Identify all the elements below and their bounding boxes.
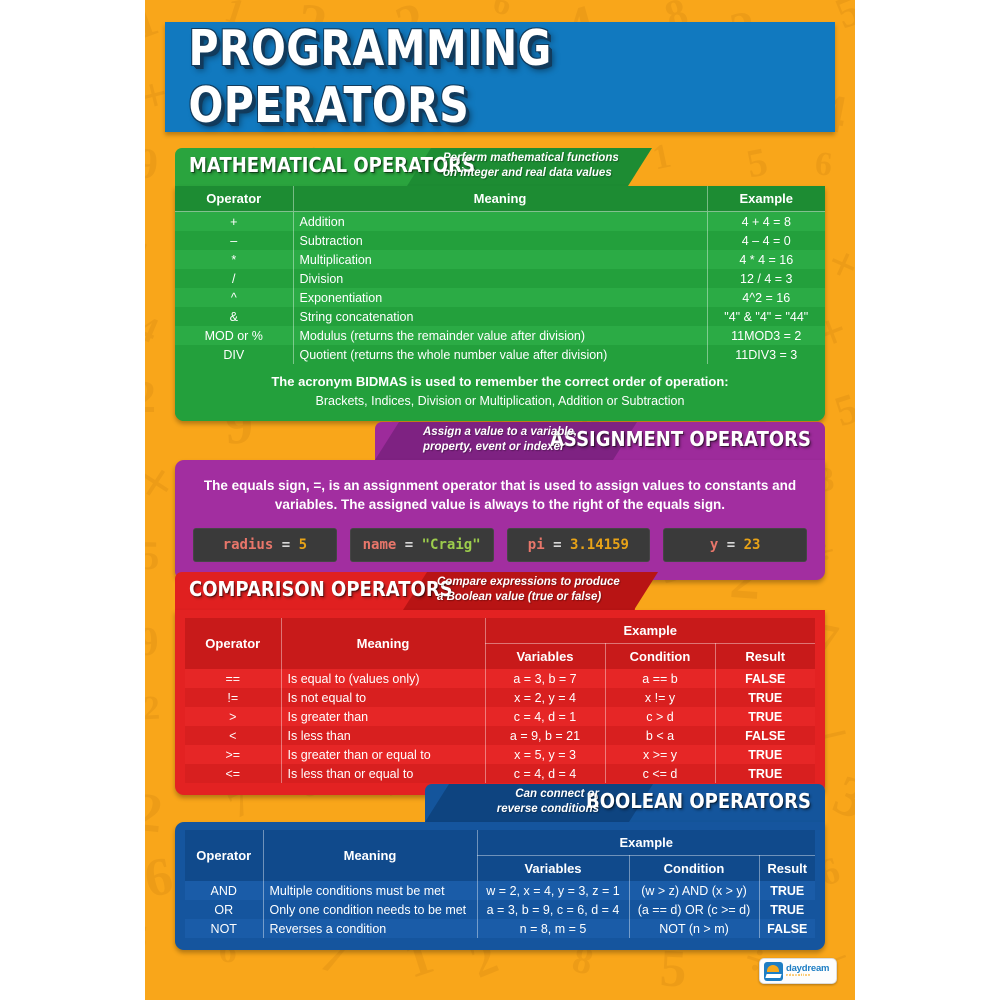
boolean-section-title: Boolean Operators (586, 789, 811, 813)
cmp-cell-meaning: Is not equal to (281, 688, 485, 707)
math-cell-meaning: Quotient (returns the whole number value… (293, 345, 707, 364)
boolean-table-body: ANDMultiple conditions must be metw = 2,… (185, 881, 815, 938)
math-cell-meaning: Division (293, 269, 707, 288)
math-cell-operator: MOD or % (175, 326, 293, 345)
cmp-cell-result: TRUE (715, 764, 815, 783)
bool-th-condition: Condition (629, 856, 759, 882)
bool-cell-meaning: Multiple conditions must be met (263, 881, 477, 900)
boolean-header-row-1: Operator Meaning Example (185, 830, 815, 856)
compare-panel: Operator Meaning Example Variables Condi… (175, 610, 825, 795)
boolean-table-head: Operator Meaning Example Variables Condi… (185, 830, 815, 881)
cmp-cell-condition: c > d (605, 707, 715, 726)
page-title: Programming Operators (188, 22, 811, 132)
cmp-cell-result: FALSE (715, 669, 815, 688)
chip-variable: y (710, 537, 718, 553)
table-row: –Subtraction4 – 4 = 0 (175, 231, 825, 250)
assign-section-title: Assignment Operators (550, 427, 811, 451)
boolean-panel: Operator Meaning Example Variables Condi… (175, 822, 825, 950)
bidmas-line1: The acronym BIDMAS is used to remember t… (185, 373, 815, 392)
math-cell-meaning: String concatenation (293, 307, 707, 326)
math-cell-example: 11MOD3 = 2 (707, 326, 825, 345)
chip-operator: = (282, 537, 290, 553)
cmp-cell-condition: c <= d (605, 764, 715, 783)
bool-cell-condition: (a == d) OR (c >= d) (629, 900, 759, 919)
cmp-cell-meaning: Is greater than or equal to (281, 745, 485, 764)
table-row: >=Is greater than or equal tox = 5, y = … (185, 745, 815, 764)
math-cell-operator: & (175, 307, 293, 326)
cmp-th-result: Result (715, 644, 815, 670)
math-th-meaning: Meaning (293, 186, 707, 212)
bool-cell-result: TRUE (759, 900, 815, 919)
chip-value: 23 (744, 537, 761, 553)
daydream-logo-text: daydream education (786, 964, 829, 978)
section-comparison-operators: Comparison Operators Compare expressions… (175, 572, 825, 795)
math-ribbon: Mathematical Operators Perform mathemati… (175, 148, 825, 186)
chip-value: "Craig" (422, 537, 481, 553)
bidmas-line1-a: The acronym (271, 374, 356, 389)
cmp-cell-variables: c = 4, d = 4 (485, 764, 605, 783)
bool-cell-condition: NOT (n > m) (629, 919, 759, 938)
poster-canvas: 112264825+÷7−×÷−349−76691567487311++44+−… (145, 0, 855, 1000)
cmp-th-condition: Condition (605, 644, 715, 670)
table-row: +Addition4 + 4 = 8 (175, 212, 825, 232)
math-cell-meaning: Subtraction (293, 231, 707, 250)
math-cell-example: 11DIV3 = 3 (707, 345, 825, 364)
bidmas-line2: Brackets, Indices, Division or Multiplic… (185, 392, 815, 410)
math-th-example: Example (707, 186, 825, 212)
boolean-section-subtitle: Can connect or reverse conditions (475, 787, 599, 816)
assign-section-subtitle: Assign a value to a variable, property, … (423, 425, 577, 454)
math-bidmas-footer: The acronym BIDMAS is used to remember t… (175, 364, 825, 421)
cmp-cell-condition: x >= y (605, 745, 715, 764)
assignment-example-chip: y = 23 (663, 528, 807, 562)
cmp-cell-operator: != (185, 688, 281, 707)
boolean-subtitle-line2: reverse conditions (497, 803, 599, 815)
table-row: DIVQuotient (returns the whole number va… (175, 345, 825, 364)
chip-value: 5 (299, 537, 307, 553)
assignment-description: The equals sign, =, is an assignment ope… (175, 460, 825, 520)
boolean-ribbon: Boolean Operators Can connect or reverse… (175, 784, 825, 822)
assign-panel: The equals sign, =, is an assignment ope… (175, 460, 825, 580)
cmp-cell-meaning: Is less than (281, 726, 485, 745)
math-cell-example: "4" & "4" = "44" (707, 307, 825, 326)
math-panel: Operator Meaning Example +Addition4 + 4 … (175, 186, 825, 421)
table-row: ANDMultiple conditions must be metw = 2,… (185, 881, 815, 900)
math-cell-meaning: Multiplication (293, 250, 707, 269)
cmp-cell-variables: a = 9, b = 21 (485, 726, 605, 745)
assign-ribbon: Assignment Operators Assign a value to a… (175, 422, 825, 460)
chip-operator: = (553, 537, 561, 553)
bool-cell-variables: w = 2, x = 4, y = 3, z = 1 (477, 881, 629, 900)
logo-name: daydream (786, 964, 829, 974)
table-row: /Division12 / 4 = 3 (175, 269, 825, 288)
bidmas-line1-c: is used to remember the correct order of… (407, 374, 728, 389)
bool-cell-variables: a = 3, b = 9, c = 6, d = 4 (477, 900, 629, 919)
math-cell-operator: – (175, 231, 293, 250)
cmp-cell-result: TRUE (715, 688, 815, 707)
comparison-table: Operator Meaning Example Variables Condi… (185, 618, 815, 783)
table-row: <=Is less than or equal toc = 4, d = 4c … (185, 764, 815, 783)
bool-cell-variables: n = 8, m = 5 (477, 919, 629, 938)
cmp-cell-result: TRUE (715, 745, 815, 764)
table-row: MOD or %Modulus (returns the remainder v… (175, 326, 825, 345)
math-cell-meaning: Modulus (returns the remainder value aft… (293, 326, 707, 345)
cmp-cell-operator: <= (185, 764, 281, 783)
math-header-row: Operator Meaning Example (175, 186, 825, 212)
math-cell-example: 12 / 4 = 3 (707, 269, 825, 288)
cmp-cell-meaning: Is greater than (281, 707, 485, 726)
bool-th-variables: Variables (477, 856, 629, 882)
bool-cell-result: TRUE (759, 881, 815, 900)
table-row: !=Is not equal tox = 2, y = 4x != yTRUE (185, 688, 815, 707)
chip-value: 3.14159 (570, 537, 629, 553)
section-assignment-operators: Assignment Operators Assign a value to a… (175, 422, 825, 580)
boolean-table: Operator Meaning Example Variables Condi… (185, 830, 815, 938)
table-row: <Is less thana = 9, b = 21b < aFALSE (185, 726, 815, 745)
logo-tagline: education (786, 974, 829, 978)
bool-cell-meaning: Reverses a condition (263, 919, 477, 938)
cmp-cell-operator: < (185, 726, 281, 745)
cmp-cell-condition: a == b (605, 669, 715, 688)
comparison-table-body: ==Is equal to (values only)a = 3, b = 7a… (185, 669, 815, 783)
cmp-cell-variables: a = 3, b = 7 (485, 669, 605, 688)
cmp-th-meaning: Meaning (281, 618, 485, 669)
table-row: OROnly one condition needs to be meta = … (185, 900, 815, 919)
cmp-th-example: Example (485, 618, 815, 644)
cmp-th-variables: Variables (485, 644, 605, 670)
math-cell-operator: * (175, 250, 293, 269)
bool-cell-result: FALSE (759, 919, 815, 938)
chip-operator: = (727, 537, 735, 553)
comparison-header-row-1: Operator Meaning Example (185, 618, 815, 644)
math-table: Operator Meaning Example +Addition4 + 4 … (175, 186, 825, 364)
math-cell-operator: + (175, 212, 293, 232)
compare-ribbon: Comparison Operators Compare expressions… (175, 572, 825, 610)
chip-variable: pi (528, 537, 545, 553)
math-th-operator: Operator (175, 186, 293, 212)
bool-th-operator: Operator (185, 830, 263, 881)
section-boolean-operators: Boolean Operators Can connect or reverse… (175, 784, 825, 950)
math-table-head: Operator Meaning Example (175, 186, 825, 212)
assignment-example-chip: name = "Craig" (350, 528, 494, 562)
table-row: &String concatenation"4" & "4" = "44" (175, 307, 825, 326)
math-cell-example: 4^2 = 16 (707, 288, 825, 307)
assignment-example-chip: radius = 5 (193, 528, 337, 562)
section-mathematical-operators: Mathematical Operators Perform mathemati… (175, 148, 825, 421)
cmp-cell-result: TRUE (715, 707, 815, 726)
table-row: NOTReverses a conditionn = 8, m = 5NOT (… (185, 919, 815, 938)
bool-cell-operator: AND (185, 881, 263, 900)
table-row: ^Exponentiation4^2 = 16 (175, 288, 825, 307)
compare-section-subtitle: Compare expressions to produce a Boolean… (437, 575, 620, 604)
math-cell-example: 4 * 4 = 16 (707, 250, 825, 269)
compare-subtitle-line2: a Boolean value (true or false) (437, 591, 601, 603)
cmp-cell-variables: x = 2, y = 4 (485, 688, 605, 707)
math-cell-example: 4 – 4 = 0 (707, 231, 825, 250)
bidmas-acronym: BIDMAS (356, 374, 407, 389)
math-cell-operator: / (175, 269, 293, 288)
cmp-cell-meaning: Is equal to (values only) (281, 669, 485, 688)
math-table-body: +Addition4 + 4 = 8–Subtraction4 – 4 = 0*… (175, 212, 825, 365)
table-row: *Multiplication4 * 4 = 16 (175, 250, 825, 269)
cmp-cell-operator: == (185, 669, 281, 688)
poster-title-banner: Programming Operators (165, 22, 835, 132)
daydream-logo-icon (764, 962, 783, 981)
cmp-cell-variables: x = 5, y = 3 (485, 745, 605, 764)
math-section-title: Mathematical Operators (189, 153, 475, 177)
cmp-cell-condition: b < a (605, 726, 715, 745)
cmp-cell-variables: c = 4, d = 1 (485, 707, 605, 726)
math-section-subtitle: Perform mathematical functions on intege… (443, 151, 619, 180)
daydream-education-logo[interactable]: daydream education (759, 958, 837, 984)
bool-cell-operator: NOT (185, 919, 263, 938)
comparison-table-head: Operator Meaning Example Variables Condi… (185, 618, 815, 669)
cmp-cell-result: FALSE (715, 726, 815, 745)
cmp-cell-condition: x != y (605, 688, 715, 707)
math-cell-example: 4 + 4 = 8 (707, 212, 825, 232)
boolean-subtitle-line1: Can connect or (515, 788, 599, 800)
table-row: >Is greater thanc = 4, d = 1c > dTRUE (185, 707, 815, 726)
math-cell-meaning: Exponentiation (293, 288, 707, 307)
chip-operator: = (405, 537, 413, 553)
assign-subtitle-line1: Assign a value to a variable, (423, 426, 577, 438)
bool-cell-condition: (w > z) AND (x > y) (629, 881, 759, 900)
assignment-example-chip: pi = 3.14159 (507, 528, 651, 562)
cmp-th-operator: Operator (185, 618, 281, 669)
chip-variable: name (363, 537, 397, 553)
cmp-cell-operator: > (185, 707, 281, 726)
math-subtitle-line2: on integer and real data values (443, 167, 612, 179)
bool-th-meaning: Meaning (263, 830, 477, 881)
cmp-cell-operator: >= (185, 745, 281, 764)
bool-cell-operator: OR (185, 900, 263, 919)
math-cell-operator: DIV (175, 345, 293, 364)
chip-variable: radius (223, 537, 274, 553)
bool-th-example: Example (477, 830, 815, 856)
bool-th-result: Result (759, 856, 815, 882)
compare-section-title: Comparison Operators (189, 577, 453, 601)
math-cell-operator: ^ (175, 288, 293, 307)
math-cell-meaning: Addition (293, 212, 707, 232)
cmp-cell-meaning: Is less than or equal to (281, 764, 485, 783)
compare-subtitle-line1: Compare expressions to produce (437, 576, 620, 588)
table-row: ==Is equal to (values only)a = 3, b = 7a… (185, 669, 815, 688)
math-subtitle-line1: Perform mathematical functions (443, 152, 619, 164)
assign-subtitle-line2: property, event or indexer (423, 441, 564, 453)
bool-cell-meaning: Only one condition needs to be met (263, 900, 477, 919)
